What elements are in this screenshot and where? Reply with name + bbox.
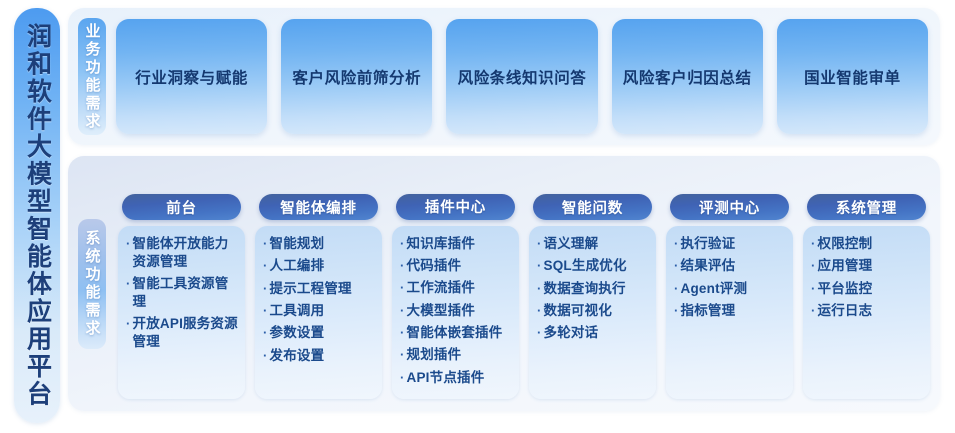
business-card[interactable]: 风险客户归因总结 (612, 19, 763, 134)
list-item[interactable]: ·参数设置 (263, 324, 376, 342)
bullet-icon: · (400, 302, 405, 319)
list-item[interactable]: ·语义理解 (537, 235, 650, 253)
list-item[interactable]: ·发布设置 (263, 347, 376, 365)
business-requirements-panel: 业务功能需求 行业洞察与赋能客户风险前筛分析风险条线知识问答风险客户归因总结国业… (68, 8, 940, 145)
system-column: 系统管理·权限控制·应用管理·平台监控·运行日志 (803, 194, 930, 399)
business-card-label: 行业洞察与赋能 (135, 66, 248, 88)
system-column-header[interactable]: 智能体编排 (259, 194, 378, 220)
system-column-header[interactable]: 智能问数 (533, 194, 652, 220)
list-item[interactable]: ·应用管理 (811, 257, 924, 275)
list-item-label: 参数设置 (270, 324, 376, 342)
list-item-label: 智能规划 (270, 235, 376, 253)
list-item-label: 智能工具资源管理 (133, 275, 239, 311)
list-item-label: 多轮对话 (544, 324, 650, 342)
bullet-icon: · (811, 257, 816, 274)
system-column-body: ·知识库插件·代码插件·工作流插件·大模型插件·智能体嵌套插件·规划插件·API… (392, 226, 519, 399)
business-card-label: 国业智能审单 (804, 66, 901, 88)
bullet-icon: · (537, 280, 542, 297)
bullet-icon: · (811, 235, 816, 252)
list-item[interactable]: ·代码插件 (400, 257, 513, 275)
list-item-label: Agent评测 (681, 280, 787, 298)
bullet-icon: · (674, 235, 679, 252)
list-item[interactable]: ·开放API服务资源管理 (126, 315, 239, 351)
list-item-label: 平台监控 (818, 280, 924, 298)
bullet-icon: · (126, 275, 131, 292)
list-item-label: 指标管理 (681, 302, 787, 320)
system-column-title: 系统管理 (836, 197, 897, 218)
list-item-label: 大模型插件 (407, 302, 513, 320)
system-column-header[interactable]: 前台 (122, 194, 241, 220)
bullet-icon: · (537, 257, 542, 274)
list-item-label: 工作流插件 (407, 279, 513, 297)
system-column-row: 前台·智能体开放能力资源管理·智能工具资源管理·开放API服务资源管理智能体编排… (118, 194, 930, 399)
list-item-label: 运行日志 (818, 302, 924, 320)
list-item-label: 代码插件 (407, 257, 513, 275)
list-item-label: 数据查询执行 (544, 280, 650, 298)
list-item[interactable]: ·工作流插件 (400, 279, 513, 297)
list-item-label: 结果评估 (681, 257, 787, 275)
system-column-header[interactable]: 系统管理 (807, 194, 926, 220)
list-item-label: 人工编排 (270, 257, 376, 275)
bullet-icon: · (537, 235, 542, 252)
business-section-label: 业务功能需求 (78, 18, 106, 135)
business-card[interactable]: 风险条线知识问答 (446, 19, 597, 134)
bullet-icon: · (674, 302, 679, 319)
list-item-label: 知识库插件 (407, 235, 513, 253)
list-item[interactable]: ·智能体开放能力资源管理 (126, 235, 239, 271)
bullet-icon: · (263, 347, 268, 364)
bullet-icon: · (126, 315, 131, 332)
bullet-icon: · (400, 346, 405, 363)
list-item[interactable]: ·规划插件 (400, 346, 513, 364)
system-column-body: ·语义理解·SQL生成优化·数据查询执行·数据可视化·多轮对话 (529, 226, 656, 399)
business-card-label: 客户风险前筛分析 (292, 66, 421, 88)
list-item-label: 工具调用 (270, 302, 376, 320)
bullet-icon: · (400, 279, 405, 296)
bullet-icon: · (126, 235, 131, 252)
list-item[interactable]: ·人工编排 (263, 257, 376, 275)
system-column-title: 评测中心 (699, 197, 760, 218)
list-item[interactable]: ·多轮对话 (537, 324, 650, 342)
list-item[interactable]: ·Agent评测 (674, 280, 787, 298)
list-item[interactable]: ·结果评估 (674, 257, 787, 275)
bullet-icon: · (263, 257, 268, 274)
system-column: 前台·智能体开放能力资源管理·智能工具资源管理·开放API服务资源管理 (118, 194, 245, 399)
system-column: 评测中心·执行验证·结果评估·Agent评测·指标管理 (666, 194, 793, 399)
bullet-icon: · (400, 369, 405, 386)
list-item-label: API节点插件 (407, 369, 513, 387)
bullet-icon: · (537, 302, 542, 319)
bullet-icon: · (263, 302, 268, 319)
bullet-icon: · (263, 280, 268, 297)
bullet-icon: · (537, 324, 542, 341)
list-item-label: 发布设置 (270, 347, 376, 365)
list-item[interactable]: ·大模型插件 (400, 302, 513, 320)
list-item[interactable]: ·数据可视化 (537, 302, 650, 320)
bullet-icon: · (263, 235, 268, 252)
platform-title-bar: 润和软件大模型智能体应用平台 (14, 8, 60, 423)
list-item-label: 智能体嵌套插件 (407, 324, 513, 342)
bullet-icon: · (811, 280, 816, 297)
list-item[interactable]: ·指标管理 (674, 302, 787, 320)
list-item-label: 应用管理 (818, 257, 924, 275)
list-item-label: SQL生成优化 (544, 257, 650, 275)
list-item[interactable]: ·权限控制 (811, 235, 924, 253)
list-item-label: 执行验证 (681, 235, 787, 253)
system-column-body: ·权限控制·应用管理·平台监控·运行日志 (803, 226, 930, 399)
bullet-icon: · (400, 235, 405, 252)
platform-title: 润和软件大模型智能体应用平台 (14, 8, 60, 423)
list-item-label: 开放API服务资源管理 (133, 315, 239, 351)
system-column-body: ·智能规划·人工编排·提示工程管理·工具调用·参数设置·发布设置 (255, 226, 382, 399)
system-column-header[interactable]: 评测中心 (670, 194, 789, 220)
system-column-body: ·智能体开放能力资源管理·智能工具资源管理·开放API服务资源管理 (118, 226, 245, 399)
system-column: 插件中心·知识库插件·代码插件·工作流插件·大模型插件·智能体嵌套插件·规划插件… (392, 194, 519, 399)
system-section-label: 系统功能需求 (78, 219, 106, 349)
list-item-label: 规划插件 (407, 346, 513, 364)
list-item[interactable]: ·智能规划 (263, 235, 376, 253)
system-column-body: ·执行验证·结果评估·Agent评测·指标管理 (666, 226, 793, 399)
list-item[interactable]: ·数据查询执行 (537, 280, 650, 298)
list-item[interactable]: ·运行日志 (811, 302, 924, 320)
list-item[interactable]: ·执行验证 (674, 235, 787, 253)
business-card[interactable]: 国业智能审单 (777, 19, 928, 134)
bullet-icon: · (674, 257, 679, 274)
list-item[interactable]: ·智能体嵌套插件 (400, 324, 513, 342)
diagram-root: 润和软件大模型智能体应用平台 业务功能需求 行业洞察与赋能客户风险前筛分析风险条… (0, 0, 955, 433)
business-card[interactable]: 客户风险前筛分析 (281, 19, 432, 134)
system-column-title: 智能体编排 (280, 197, 357, 218)
list-item[interactable]: ·提示工程管理 (263, 280, 376, 298)
bullet-icon: · (400, 257, 405, 274)
business-card-label: 风险客户归因总结 (623, 66, 752, 88)
bullet-icon: · (400, 324, 405, 341)
system-column-header[interactable]: 插件中心 (396, 194, 515, 220)
system-column-title: 前台 (166, 197, 197, 218)
bullet-icon: · (811, 302, 816, 319)
list-item-label: 数据可视化 (544, 302, 650, 320)
list-item-label: 智能体开放能力资源管理 (133, 235, 239, 271)
system-column-title: 智能问数 (562, 197, 623, 218)
system-requirements-panel: 系统功能需求 前台·智能体开放能力资源管理·智能工具资源管理·开放API服务资源… (68, 156, 940, 411)
system-column: 智能问数·语义理解·SQL生成优化·数据查询执行·数据可视化·多轮对话 (529, 194, 656, 399)
business-card-label: 风险条线知识问答 (458, 66, 587, 88)
list-item-label: 语义理解 (544, 235, 650, 253)
list-item[interactable]: ·工具调用 (263, 302, 376, 320)
bullet-icon: · (263, 324, 268, 341)
list-item[interactable]: ·SQL生成优化 (537, 257, 650, 275)
bullet-icon: · (674, 280, 679, 297)
list-item-label: 权限控制 (818, 235, 924, 253)
business-card-row: 行业洞察与赋能客户风险前筛分析风险条线知识问答风险客户归因总结国业智能审单 (116, 19, 928, 134)
business-card[interactable]: 行业洞察与赋能 (116, 19, 267, 134)
list-item[interactable]: ·平台监控 (811, 280, 924, 298)
list-item[interactable]: ·API节点插件 (400, 369, 513, 387)
list-item[interactable]: ·知识库插件 (400, 235, 513, 253)
list-item[interactable]: ·智能工具资源管理 (126, 275, 239, 311)
list-item-label: 提示工程管理 (270, 280, 376, 298)
system-column: 智能体编排·智能规划·人工编排·提示工程管理·工具调用·参数设置·发布设置 (255, 194, 382, 399)
system-column-title: 插件中心 (425, 196, 486, 217)
